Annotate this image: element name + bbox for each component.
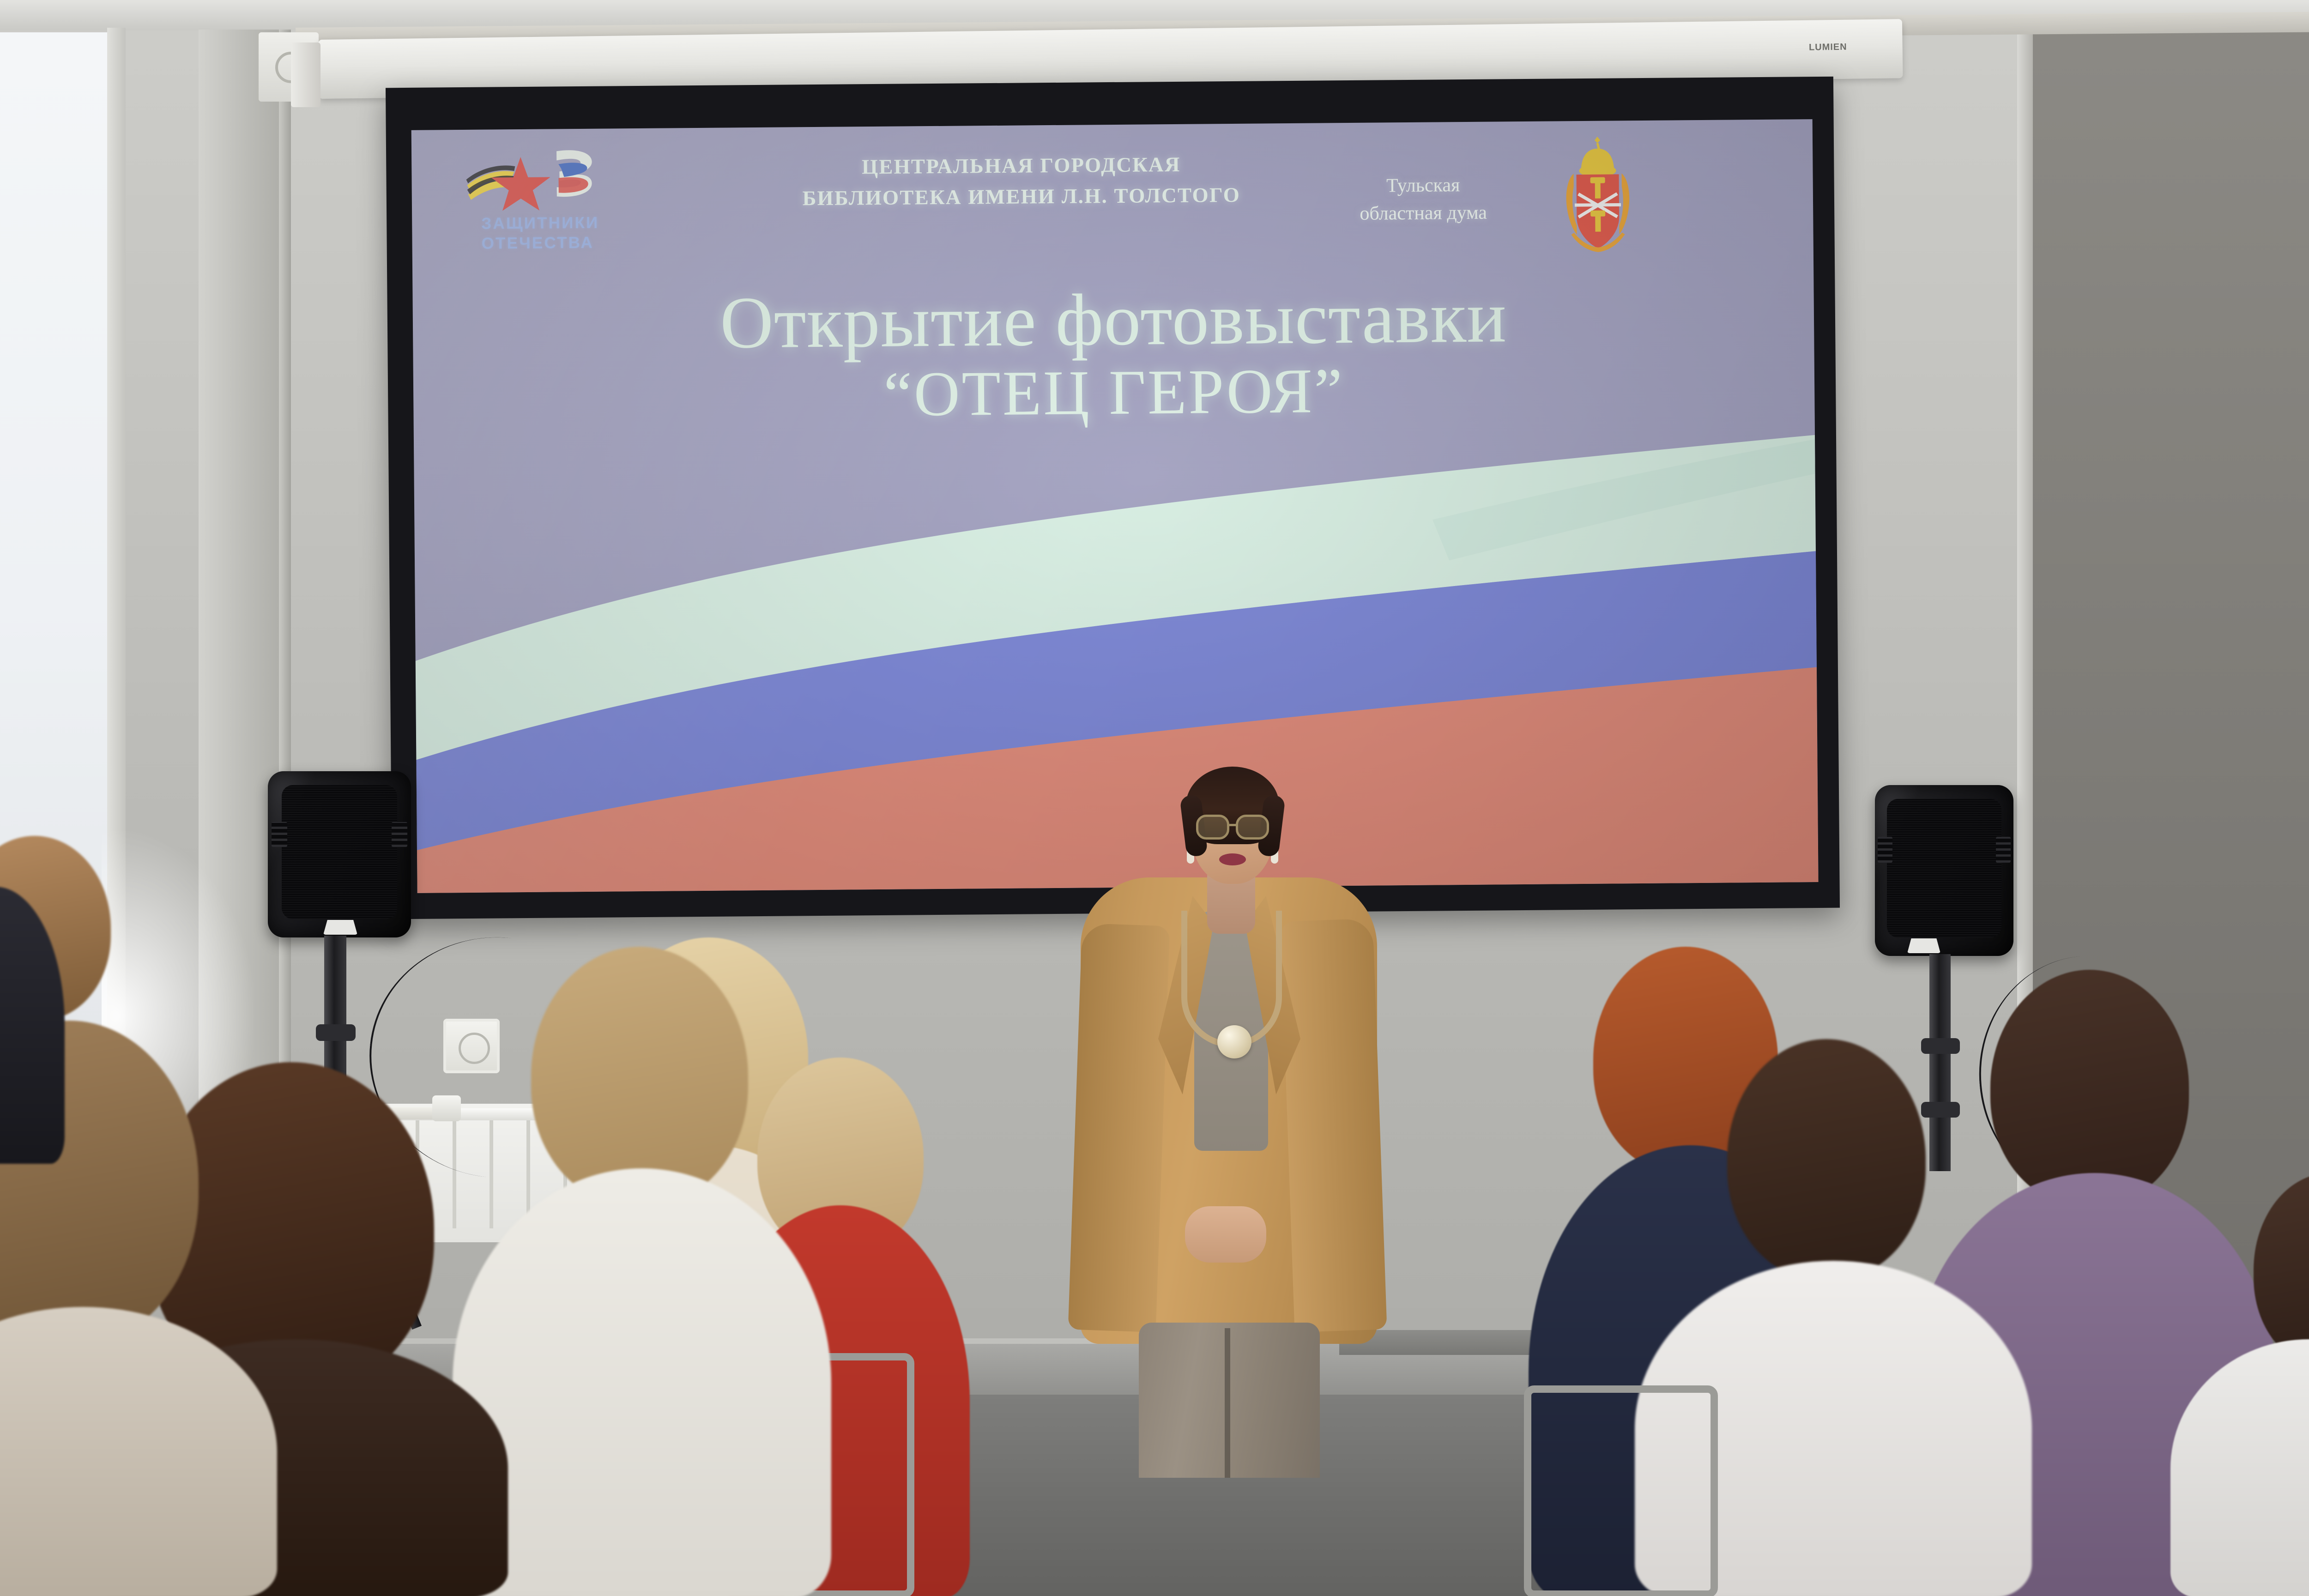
presenter-hands: [1185, 1206, 1266, 1263]
screen-case-endcap: [291, 42, 320, 107]
presenter-sleeve-left: [1068, 923, 1170, 1332]
slide-title-line-2: “ОТЕЦ ГЕРОЯ”: [413, 350, 1815, 435]
library-caption: ЦЕНТРАЛЬНАЯ ГОРОДСКАЯ БИБЛИОТЕКА ИМЕНИ Л…: [753, 148, 1289, 214]
duma-caption-line1: Тульская: [1317, 171, 1529, 200]
presenter-glasses-bridge: [1229, 824, 1238, 826]
screen-brand-label: LUMIEN: [1809, 42, 1847, 53]
presenter-pendant: [1217, 1025, 1251, 1058]
room-scene: LUMIEN: [0, 0, 2309, 1596]
defenders-logo: ЗАЩИТНИКИ ОТЕЧЕСТВА: [466, 147, 707, 258]
tula-coat-of-arms-icon: [1544, 134, 1660, 254]
defenders-logo-line1: ЗАЩИТНИКИ: [481, 214, 599, 233]
chair-back-right: [1524, 1385, 1718, 1596]
presenter-sleeve-right: [1281, 919, 1387, 1332]
duma-caption: Тульская областная дума: [1317, 171, 1529, 228]
library-caption-line2: БИБЛИОТЕКА ИМЕНИ Л.Н. ТОЛСТОГО: [754, 179, 1289, 214]
slide-header: ЗАЩИТНИКИ ОТЕЧЕСТВА ЦЕНТРАЛЬНАЯ ГОРОДСКА…: [411, 136, 1813, 262]
presenter-trousers: [1139, 1323, 1320, 1478]
defenders-logo-line2: ОТЕЧЕСТВА: [481, 234, 594, 253]
presenter-glasses-left-lens: [1196, 815, 1229, 840]
presenter-glasses-right-lens: [1236, 815, 1269, 840]
wall-pillar-edge: [279, 30, 291, 1212]
defenders-emblem-icon: [466, 148, 619, 218]
presenter: [1070, 772, 1386, 1474]
library-caption-line1: ЦЕНТРАЛЬНАЯ ГОРОДСКАЯ: [753, 148, 1289, 183]
duma-caption-line2: областная дума: [1317, 199, 1529, 228]
presenter-mouth: [1219, 853, 1246, 865]
